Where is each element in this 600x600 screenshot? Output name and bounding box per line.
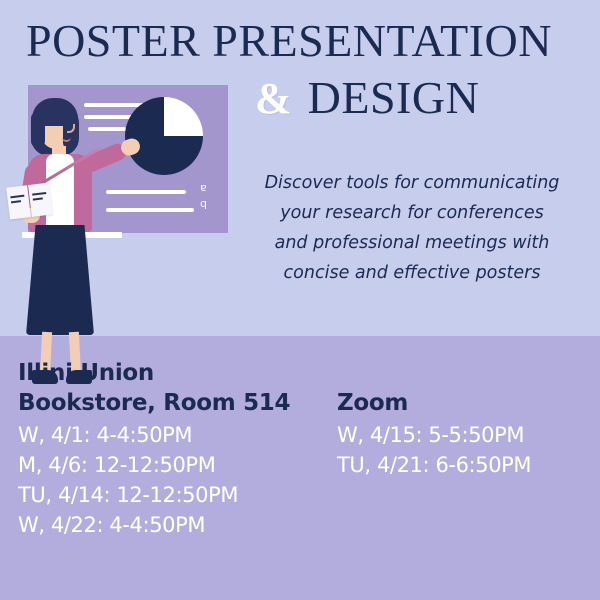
board-line — [106, 208, 194, 212]
presenter-hair-left — [31, 112, 45, 148]
venue-left-line-1: Illini Union — [18, 358, 328, 388]
presenter-eye — [53, 121, 58, 123]
page-title-line-2: &DESIGN — [255, 72, 600, 125]
subtitle-line: Discover tools for communicating — [228, 168, 596, 198]
book-page-right — [28, 183, 53, 217]
venue-left-line-2: Bookstore, Room 514 — [18, 388, 328, 418]
page-title-line-1: POSTER PRESENTATION — [26, 16, 586, 66]
venue-right-times: W, 4/15: 5-5:50PM TU, 4/21: 6-6:50PM — [337, 420, 597, 480]
presenter-brow — [65, 115, 72, 117]
pie-chart-disc — [125, 97, 203, 175]
venue-right-heading: Zoom — [337, 388, 587, 418]
presenter-brow — [52, 115, 59, 117]
session-time: TU, 4/14: 12-12:50PM — [18, 480, 338, 510]
presenter-eye — [66, 121, 71, 123]
open-book — [6, 182, 54, 219]
footer-logo-bar: Speakers Workshop Writers Workshop Illin… — [0, 540, 600, 600]
ampersand-glyph: & — [255, 74, 292, 123]
board-line — [88, 127, 126, 131]
session-time: TU, 4/21: 6-6:50PM — [337, 450, 597, 480]
session-time: W, 4/22: 4-4:50PM — [18, 510, 338, 540]
page-title-design-word: DESIGN — [308, 72, 480, 123]
venue-left-times: W, 4/1: 4-4:50PM M, 4/6: 12-12:50PM TU, … — [18, 420, 338, 540]
presenter-illustration: a b — [0, 80, 230, 370]
board-line — [106, 190, 186, 194]
subtitle-line: concise and effective posters — [228, 258, 596, 288]
pie-chart — [125, 97, 203, 175]
board-mark-a: a — [200, 182, 207, 195]
subtitle-line: and professional meetings with — [228, 228, 596, 258]
session-time: W, 4/1: 4-4:50PM — [18, 420, 338, 450]
venue-right-line-1: Zoom — [337, 388, 587, 418]
venue-left-heading: Illini Union Bookstore, Room 514 — [18, 358, 328, 418]
board-mark-b: b — [200, 198, 207, 211]
session-time: M, 4/6: 12-12:50PM — [18, 450, 338, 480]
poster: POSTER PRESENTATION &DESIGN Discover too… — [0, 0, 600, 600]
session-time: W, 4/15: 5-5:50PM — [337, 420, 597, 450]
subtitle-line: your research for conferences — [228, 198, 596, 228]
book-page-left — [6, 185, 31, 219]
subtitle-paragraph: Discover tools for communicating your re… — [228, 168, 596, 288]
presenter-skirt — [26, 225, 94, 335]
